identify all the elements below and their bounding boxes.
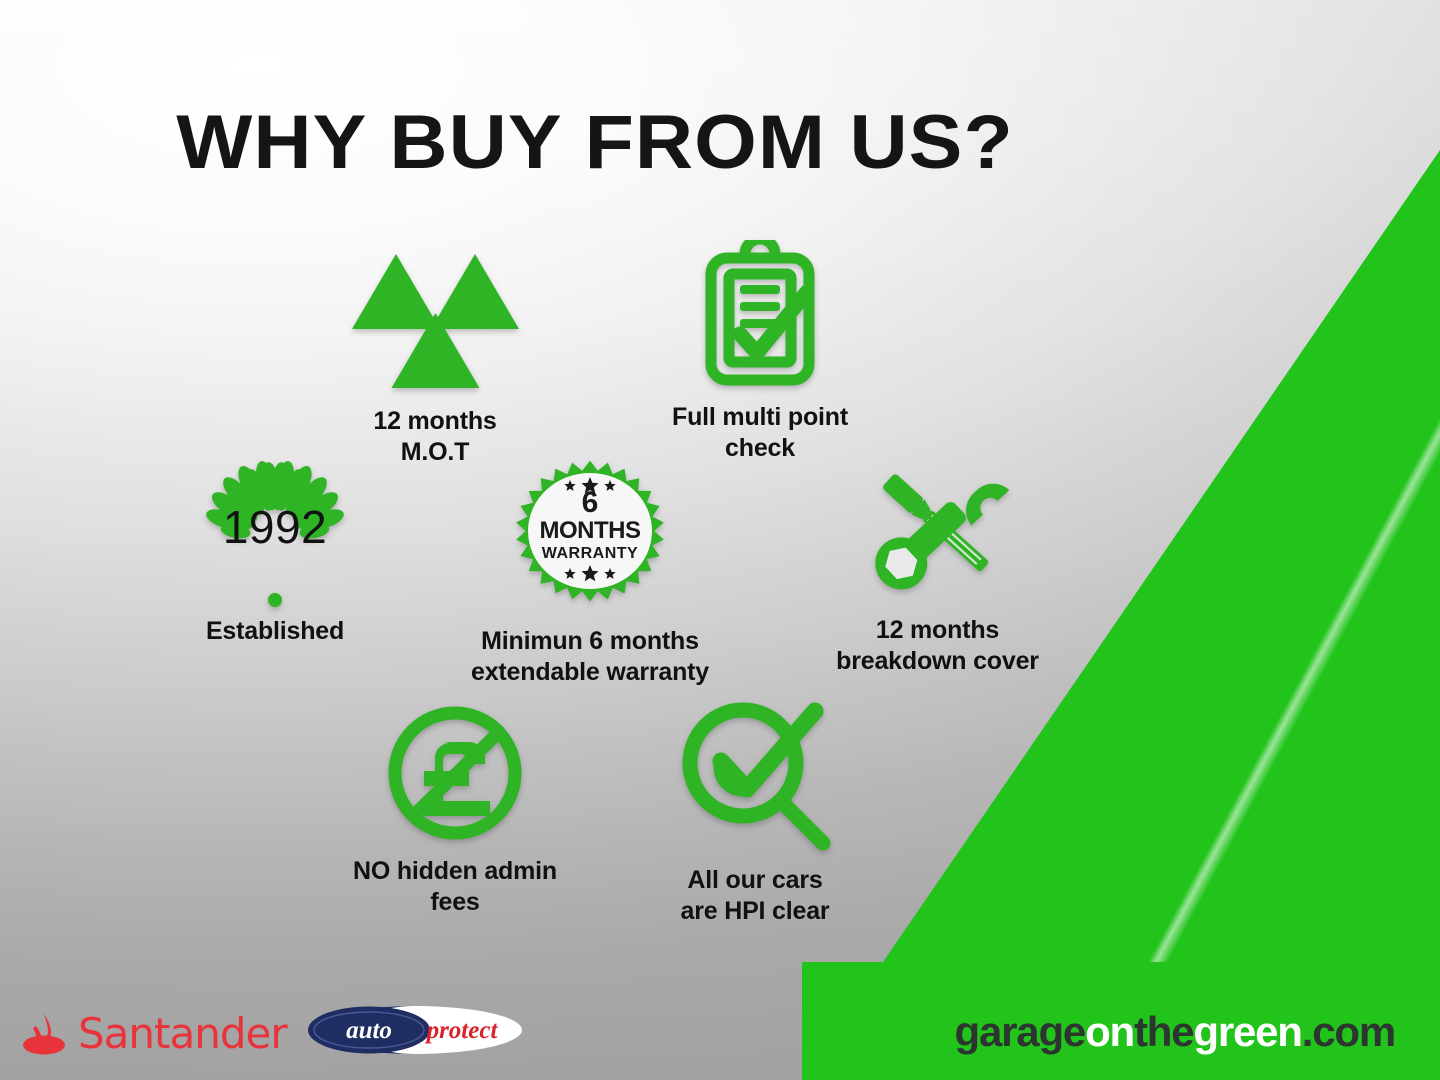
caption-line: Full multi point [640, 402, 880, 433]
site-logo-part-com: .com [1302, 1008, 1395, 1055]
santander-wordmark: Santander [78, 1009, 287, 1058]
clipboard-check-icon [640, 240, 880, 392]
wrench-screwdriver-icon [805, 445, 1070, 605]
caption-line: Minimun 6 months [460, 626, 720, 657]
no-pound-fees-icon [330, 700, 580, 846]
feature-no-admin-fees-caption: NO hidden admin fees [330, 856, 580, 918]
feature-hpi-clear-caption: All our cars are HPI clear [630, 865, 880, 927]
feature-warranty-caption: Minimun 6 months extendable warranty [460, 626, 720, 688]
footer-partner-logos: Santander auto protect [0, 962, 802, 1080]
santander-flame-icon [22, 1012, 68, 1056]
feature-hpi-clear: All our cars are HPI clear [630, 695, 880, 927]
autoprotect-logo: auto protect [307, 1005, 523, 1055]
caption-line: are HPI clear [630, 896, 880, 927]
page-title: WHY BUY FROM US? [0, 99, 1226, 186]
caption-line: extendable warranty [460, 657, 720, 688]
santander-logo: Santander [22, 1009, 287, 1058]
warranty-badge-icon: 6 MONTHS WARRANTY [460, 450, 720, 612]
autoprotect-word-auto: auto [346, 1017, 392, 1044]
badge-number: 6 [582, 486, 599, 519]
autoprotect-word-protect: protect [425, 1017, 499, 1044]
site-logo-part-the: the [1134, 1008, 1193, 1055]
autoprotect-ellipse-logo: auto protect [307, 1005, 523, 1055]
site-logo[interactable]: garageonthegreen.com [955, 1008, 1395, 1056]
caption-line: 12 months [805, 615, 1070, 646]
feature-established-caption: Established [160, 616, 390, 647]
caption-line: 12 months [330, 406, 540, 437]
badge-word: WARRANTY [542, 545, 638, 562]
caption-line: Established [160, 616, 390, 647]
feature-multi-point-check: Full multi point check [640, 240, 880, 464]
caption-line: fees [330, 887, 580, 918]
caption-line: NO hidden admin [330, 856, 580, 887]
mot-triangles-icon [330, 246, 540, 396]
poster-canvas: WHY BUY FROM US? 12 months M.O.T [0, 0, 1440, 1080]
caption-line: All our cars [630, 865, 880, 896]
feature-warranty: 6 MONTHS WARRANTY Minimun 6 months exten… [460, 450, 720, 688]
site-logo-part-green: green [1193, 1008, 1301, 1055]
feature-mot: 12 months M.O.T [330, 246, 540, 468]
caption-line: breakdown cover [805, 646, 1070, 677]
feature-breakdown-cover: 12 months breakdown cover [805, 445, 1070, 677]
magnifier-check-icon [630, 695, 880, 855]
badge-unit: MONTHS [540, 517, 641, 544]
feature-breakdown-cover-caption: 12 months breakdown cover [805, 615, 1070, 677]
established-year: 1992 [160, 500, 390, 554]
feature-no-admin-fees: NO hidden admin fees [330, 700, 580, 918]
site-logo-part-on: on [1085, 1008, 1134, 1055]
feature-established: 1992 Established [160, 460, 390, 647]
site-logo-part-garage: garage [955, 1008, 1086, 1055]
